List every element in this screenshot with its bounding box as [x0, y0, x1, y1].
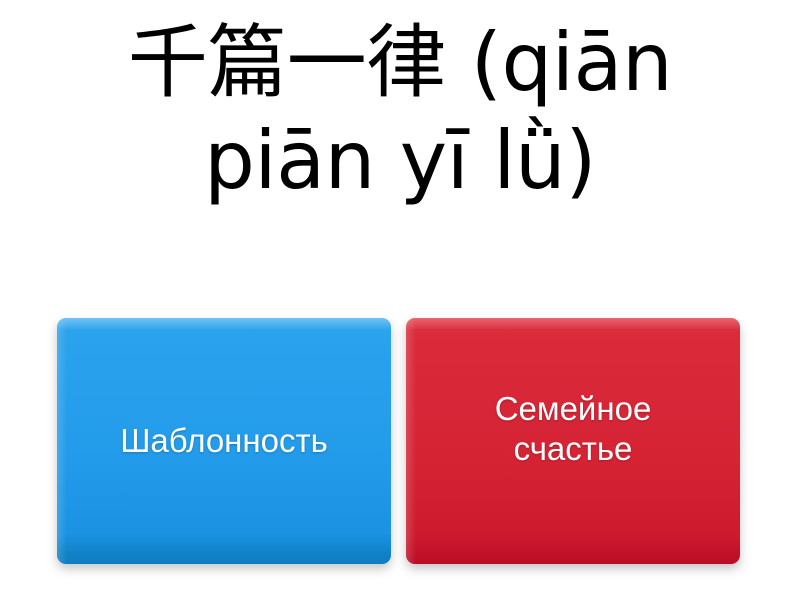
answer-option-1-label: Шаблонность — [57, 421, 391, 461]
answer-choices: Шаблонность Семейное счастье — [0, 318, 800, 570]
prompt-text: 千篇一律 (qiān piān yī lǜ) — [0, 14, 800, 209]
quiz-card: 千篇一律 (qiān piān yī lǜ) Шаблонность Семей… — [0, 0, 800, 600]
answer-option-2-label: Семейное счастье — [406, 389, 740, 469]
answer-option-2[interactable]: Семейное счастье — [406, 318, 740, 564]
answer-option-1[interactable]: Шаблонность — [57, 318, 391, 564]
